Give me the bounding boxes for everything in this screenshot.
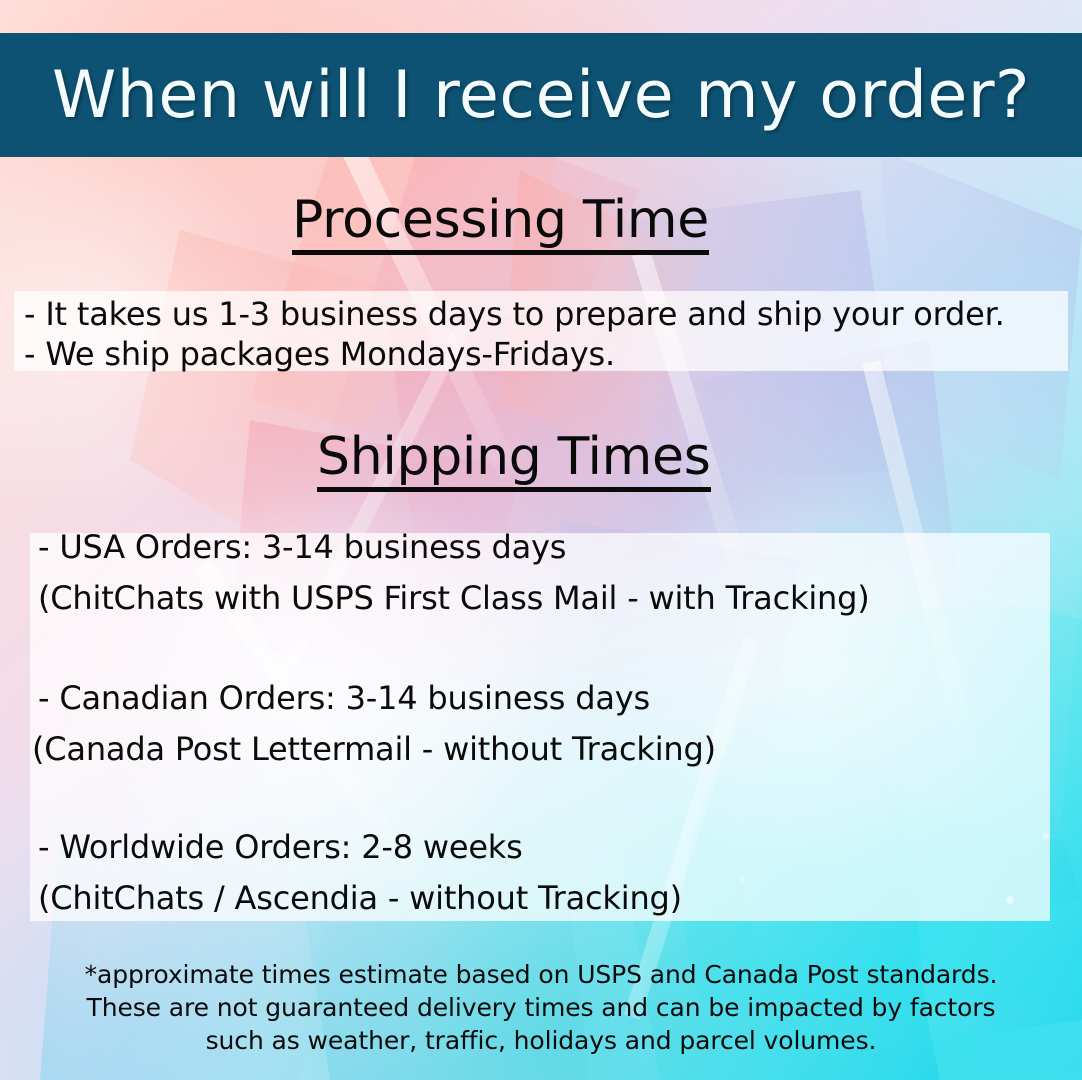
processing-line-2: - We ship packages Mondays-Fridays. <box>24 334 615 374</box>
poster-content: Processing Time - It takes us 1-3 busine… <box>0 0 1082 1080</box>
title-banner: When will I receive my order? <box>0 33 1082 157</box>
footnote-line-1: *approximate times estimate based on USP… <box>0 960 1082 990</box>
section-heading-shipping-times: Shipping Times <box>317 430 711 492</box>
shipping-worldwide-line: - Worldwide Orders: 2-8 weeks <box>38 827 523 867</box>
section-heading-processing-time: Processing Time <box>292 193 709 255</box>
shipping-usa-line: - USA Orders: 3-14 business days <box>38 527 566 567</box>
shipping-canada-carrier-line: (Canada Post Lettermail - without Tracki… <box>32 729 716 769</box>
footnote-line-2: These are not guaranteed delivery times … <box>0 993 1082 1023</box>
page-title: When will I receive my order? <box>52 63 1030 128</box>
shipping-canada-line: - Canadian Orders: 3-14 business days <box>38 678 650 718</box>
footnote-line-3: such as weather, traffic, holidays and p… <box>0 1026 1082 1056</box>
shipping-worldwide-carrier-line: (ChitChats / Ascendia - without Tracking… <box>38 878 682 918</box>
shipping-info-poster: When will I receive my order? Processing… <box>0 0 1082 1080</box>
shipping-usa-carrier-line: (ChitChats with USPS First Class Mail - … <box>38 578 869 618</box>
processing-line-1: - It takes us 1-3 business days to prepa… <box>24 294 1005 334</box>
